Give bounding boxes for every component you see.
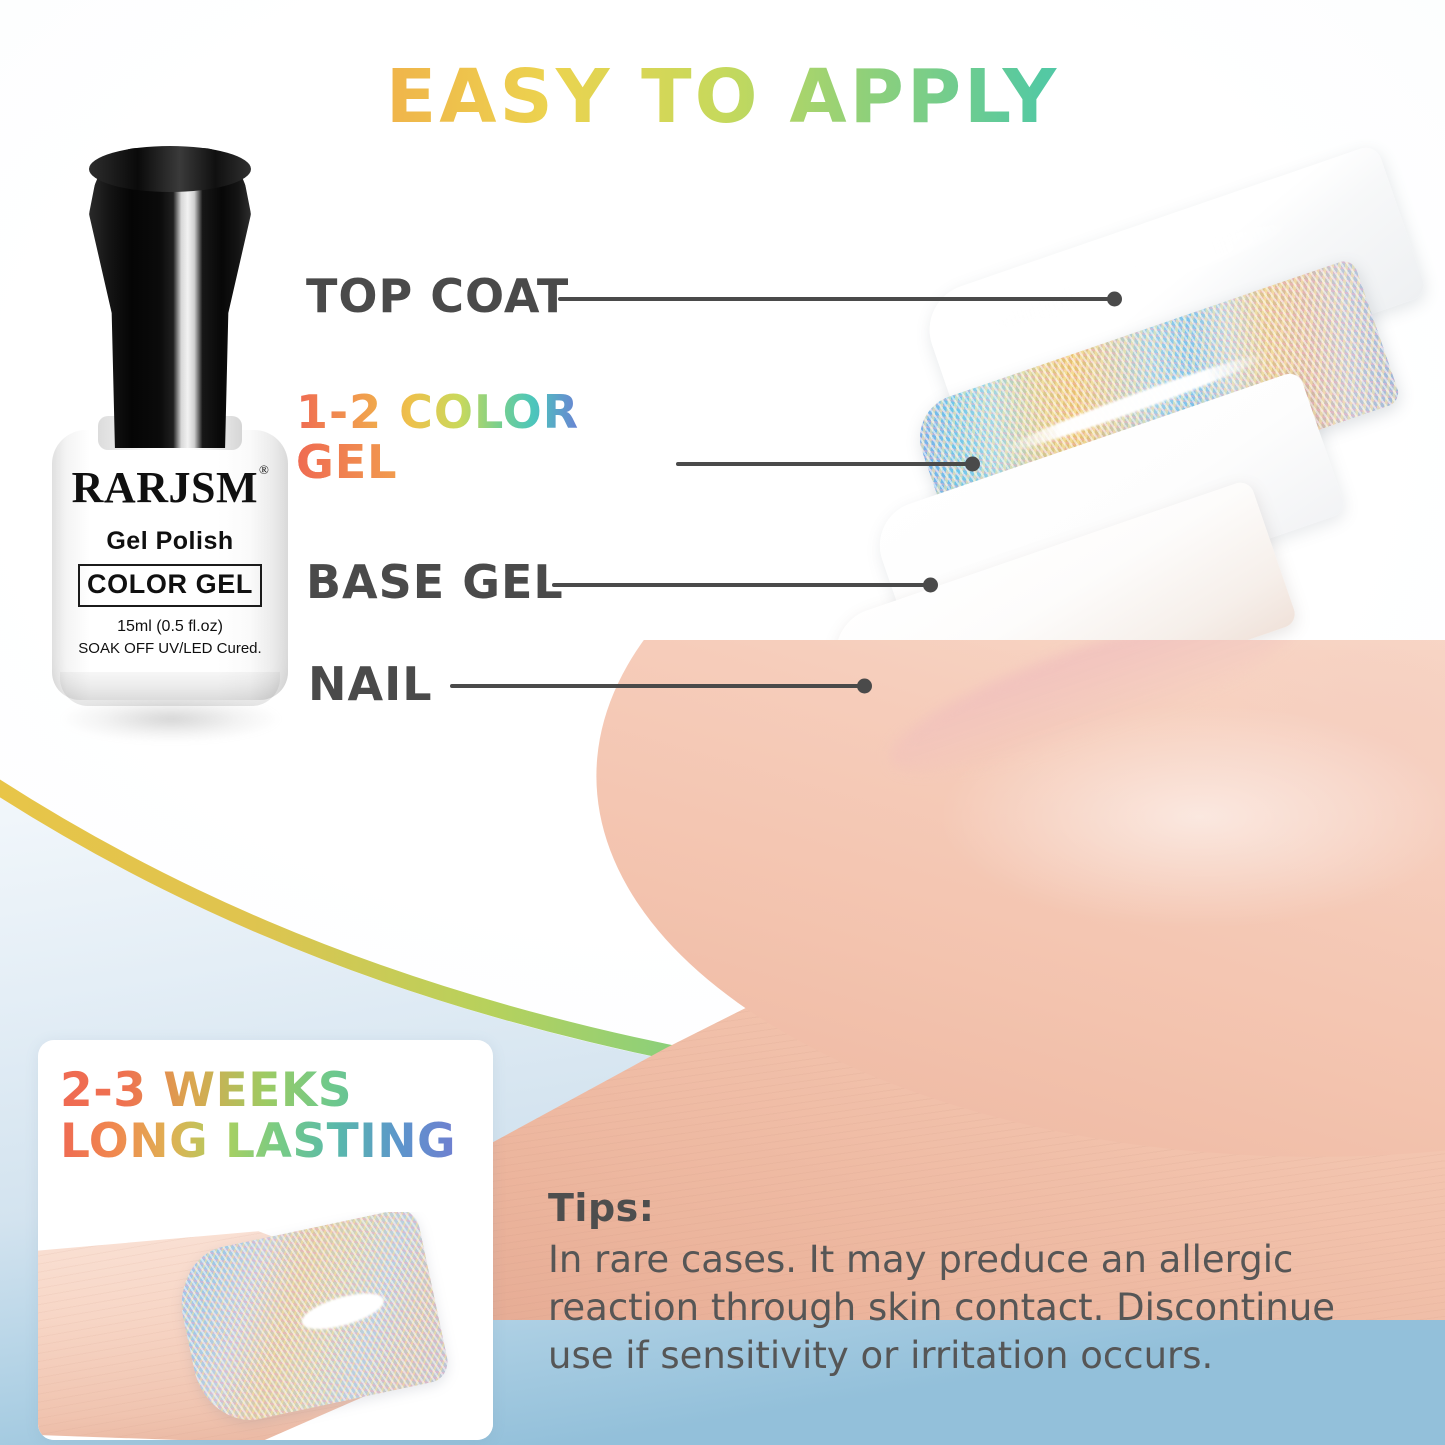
leader-dot-nail [857, 679, 872, 694]
bottle-label: RARJSM® Gel Polish COLOR GEL 15ml (0.5 f… [52, 466, 288, 657]
layer-label-top-coat: TOP COAT [306, 272, 569, 322]
layer-label-base-gel: BASE GEL [306, 558, 564, 608]
color-gel-boxed-label: COLOR GEL [78, 564, 262, 607]
layer-label-color-gel-line2: GEL [296, 438, 579, 488]
leader-line-color-gel [676, 462, 976, 466]
leader-line-nail [450, 684, 868, 688]
infographic-page: EASY TO APPLY RARJSM® Gel Polish COLOR G… [0, 0, 1445, 1445]
registered-mark-icon: ® [259, 462, 269, 477]
brand-name: RARJSM® [72, 466, 269, 510]
layer-label-nail: NAIL [308, 660, 433, 710]
product-type: Gel Polish [52, 527, 288, 556]
tips-block: Tips: In rare cases. It may preduce an a… [548, 1186, 1378, 1380]
card-nail-gloss-icon [298, 1286, 387, 1336]
bottle-base-ring [60, 672, 280, 706]
tips-heading: Tips: [548, 1186, 1378, 1230]
leader-dot-top-coat [1107, 292, 1122, 307]
long-lasting-card: 2-3 WEEKS LONG LASTING [38, 1040, 493, 1440]
leader-line-base-gel [552, 583, 934, 587]
bottle-cap-top [89, 146, 251, 192]
brand-text: RARJSM [72, 463, 258, 512]
leader-dot-base-gel [923, 578, 938, 593]
layer-label-color-gel-line1: 1-2 COLOR [296, 385, 579, 439]
leader-dot-color-gel [965, 457, 980, 472]
leader-line-top-coat [558, 297, 1118, 301]
page-title: EASY TO APPLY [0, 60, 1445, 134]
cure-note-text: SOAK OFF UV/LED Cured. [52, 640, 288, 657]
volume-text: 15ml (0.5 fl.oz) [52, 618, 288, 636]
bottle-cap [89, 148, 251, 448]
card-title-line1: 2-3 WEEKS [60, 1066, 456, 1117]
tips-body: In rare cases. It may preduce an allergi… [548, 1236, 1378, 1380]
product-bottle: RARJSM® Gel Polish COLOR GEL 15ml (0.5 f… [46, 148, 296, 748]
layer-label-color-gel: 1-2 COLOR GEL [296, 388, 579, 487]
card-manicure-photo [38, 1212, 493, 1440]
card-title-line2: LONG LASTING [60, 1117, 456, 1168]
card-title: 2-3 WEEKS LONG LASTING [60, 1066, 456, 1168]
